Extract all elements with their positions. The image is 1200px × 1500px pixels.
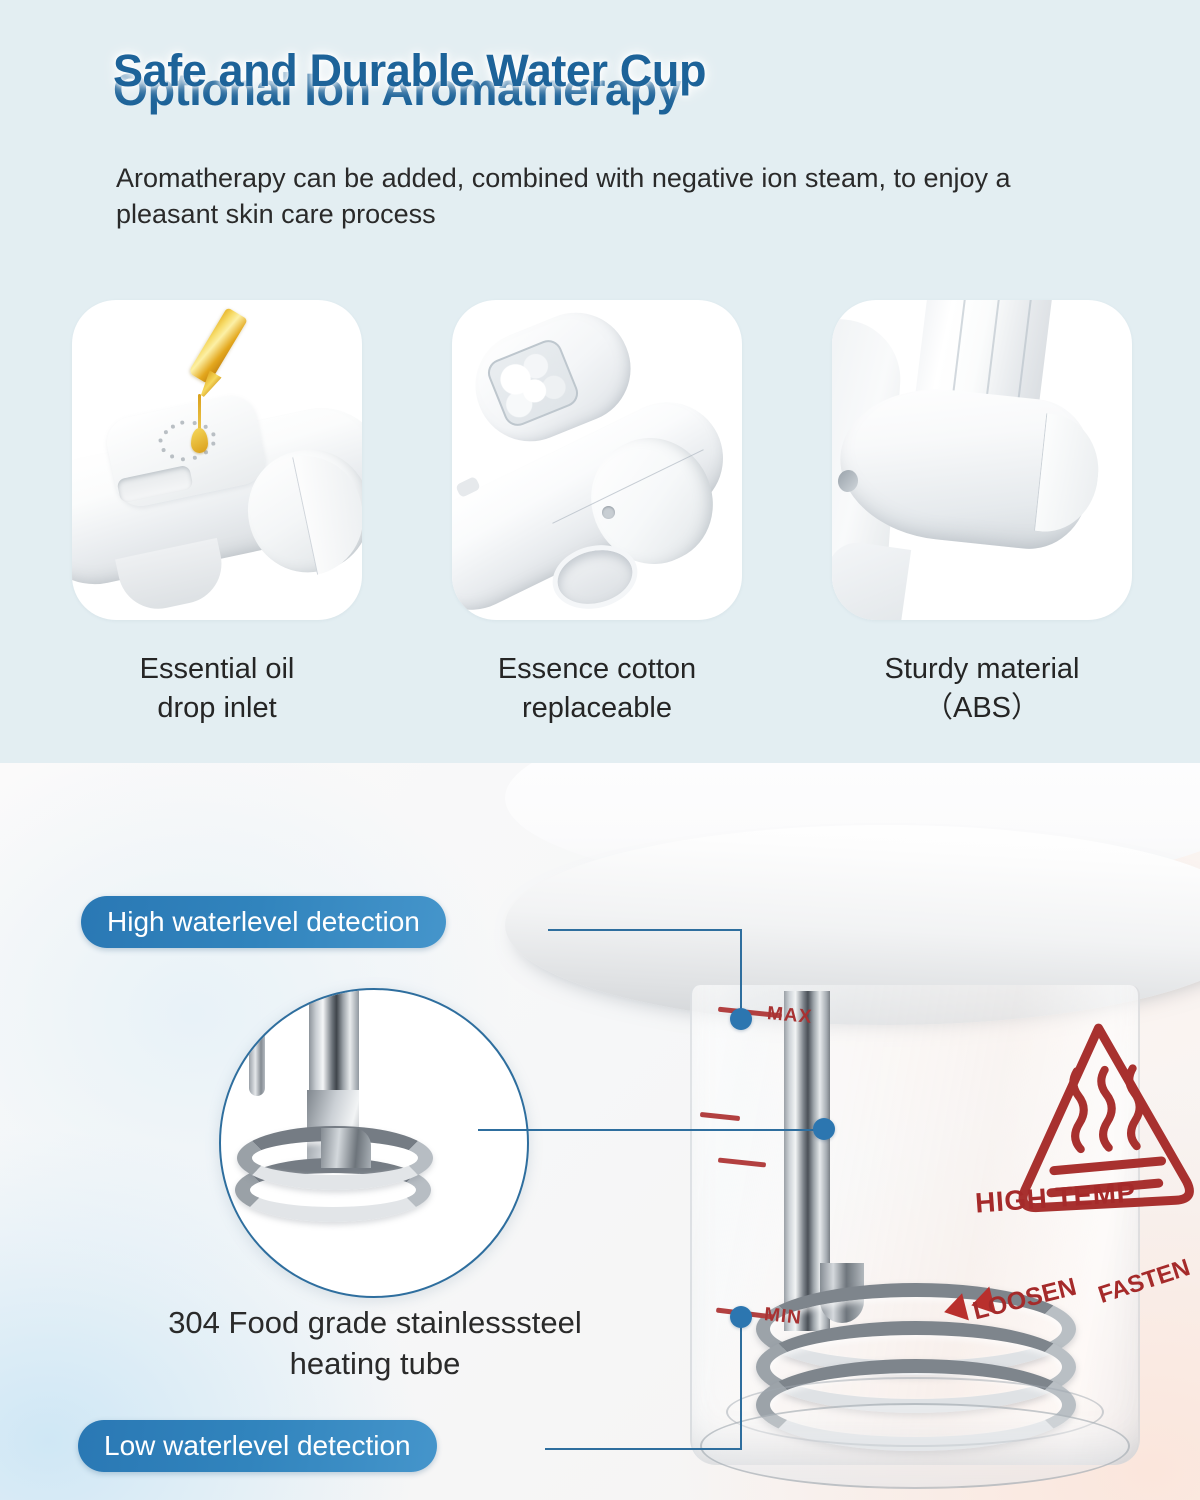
feature-caption-row: Essential oil drop inlet Essence cotton …: [72, 650, 1132, 727]
connector-line-low: [545, 1448, 742, 1450]
aromatherapy-description: Aromatherapy can be added, combined with…: [116, 160, 1076, 232]
caption-line: （ABS）: [832, 689, 1132, 728]
caption-line: Essence cotton: [447, 650, 747, 689]
caption-essence-cotton: Essence cotton replaceable: [447, 650, 747, 727]
abs-end-cap-shape: [1034, 413, 1104, 536]
aromatherapy-section: Optional Ion Aromatherapy Aromatherapy c…: [0, 0, 1200, 763]
min-label: MIN: [763, 1304, 803, 1330]
heating-tube-caption: 304 Food grade stainlesssteel heating tu…: [60, 1303, 690, 1385]
caption-line: replaceable: [447, 689, 747, 728]
connector-line-coil: [478, 1129, 823, 1131]
connector-line-high: [548, 929, 742, 931]
caption-abs-material: Sturdy material （ABS）: [832, 650, 1132, 727]
caption-line: drop inlet: [72, 689, 362, 728]
water-cup-heading: Safe and Durable Water Cup: [113, 45, 706, 97]
caption-line: heating tube: [60, 1344, 690, 1385]
marker-dot-low-level: [730, 1306, 752, 1328]
badge-label: High waterlevel detection: [107, 906, 420, 938]
feature-panel-row: [72, 300, 1132, 630]
badge-label: Low waterlevel detection: [104, 1430, 411, 1462]
badge-high-waterlevel[interactable]: High waterlevel detection: [81, 896, 446, 948]
high-temp-triangle-svg: [1002, 1013, 1200, 1253]
high-temp-warning-icon: [1002, 1013, 1200, 1253]
abs-lower-fin-shape: [832, 539, 911, 620]
caption-line: 304 Food grade stainlesssteel: [60, 1303, 690, 1344]
inset-thin-tube-shape: [249, 988, 265, 1096]
max-label: MAX: [766, 1003, 813, 1029]
caption-line: Sturdy material: [832, 650, 1132, 689]
caption-essential-oil: Essential oil drop inlet: [72, 650, 362, 727]
oil-dropper-icon: [188, 307, 248, 385]
panel-essential-oil-inlet: [72, 300, 362, 620]
oil-droplet-icon: [191, 428, 208, 453]
inset-coil-bridge-shape: [321, 1128, 371, 1168]
cup-base-ring: [700, 1403, 1130, 1489]
panel-essence-cotton: [452, 300, 742, 620]
badge-low-waterlevel[interactable]: Low waterlevel detection: [78, 1420, 437, 1472]
marker-dot-heating-tube: [813, 1118, 835, 1140]
device-vent-hole-icon: [602, 506, 615, 519]
heating-coil-magnified-inset: [219, 988, 529, 1298]
caption-line: Essential oil: [72, 650, 362, 689]
panel-abs-material: [832, 300, 1132, 620]
connector-line-low: [740, 1317, 742, 1450]
connector-line-high: [740, 929, 742, 1019]
marker-dot-high-level: [730, 1008, 752, 1030]
